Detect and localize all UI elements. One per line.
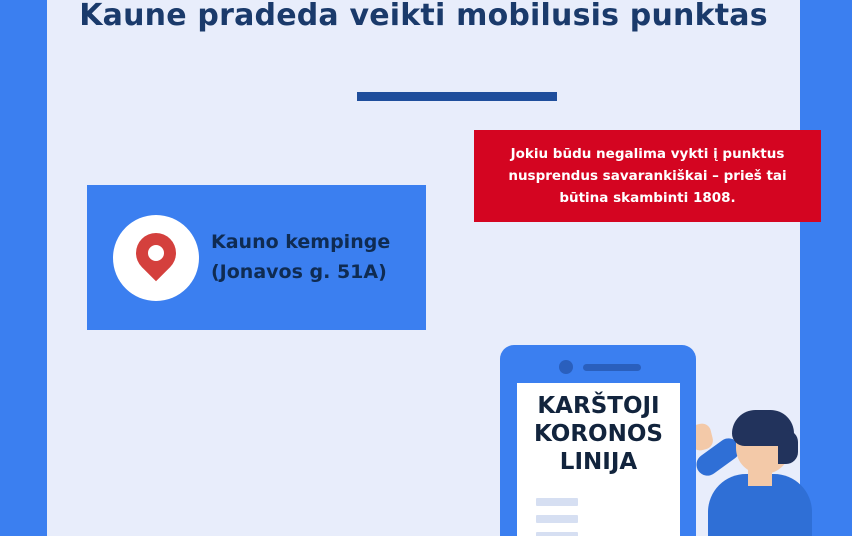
placeholder-lines [536, 498, 578, 536]
map-pin-shape [128, 225, 185, 282]
phone-camera-icon [559, 360, 573, 374]
left-accent-bar [0, 0, 47, 536]
phone-speaker [583, 364, 641, 371]
phone-screen: KARŠTOJI KORONOS LINIJA 1808 [517, 383, 680, 536]
warning-banner: Jokiu būdu negalima vykti į punktus nusp… [474, 130, 821, 222]
hotline-title-line-2: KORONOS [517, 420, 680, 448]
poster-canvas: Kaune pradeda veikti mobilusis punktas J… [0, 0, 852, 536]
person-hair-side [778, 430, 798, 464]
map-pin-icon [113, 215, 199, 301]
placeholder-line [536, 532, 578, 536]
phone-illustration: KARŠTOJI KORONOS LINIJA 1808 [500, 345, 696, 536]
location-card: Kauno kempinge (Jonavos g. 51A) [87, 185, 426, 330]
placeholder-line [536, 515, 578, 523]
page-title: Kaune pradeda veikti mobilusis punktas [47, 0, 800, 36]
warning-banner-text: Jokiu būdu negalima vykti į punktus nusp… [474, 143, 821, 209]
location-card-text: Kauno kempinge (Jonavos g. 51A) [211, 227, 411, 287]
title-underline-rule [357, 92, 557, 101]
location-line-2: (Jonavos g. 51A) [211, 257, 411, 287]
hotline-title: KARŠTOJI KORONOS LINIJA [517, 392, 680, 476]
hotline-title-line-1: KARŠTOJI [517, 392, 680, 420]
hotline-title-line-3: LINIJA [517, 448, 680, 476]
location-line-1: Kauno kempinge [211, 227, 411, 257]
placeholder-line [536, 498, 578, 506]
person-illustration [690, 400, 818, 536]
